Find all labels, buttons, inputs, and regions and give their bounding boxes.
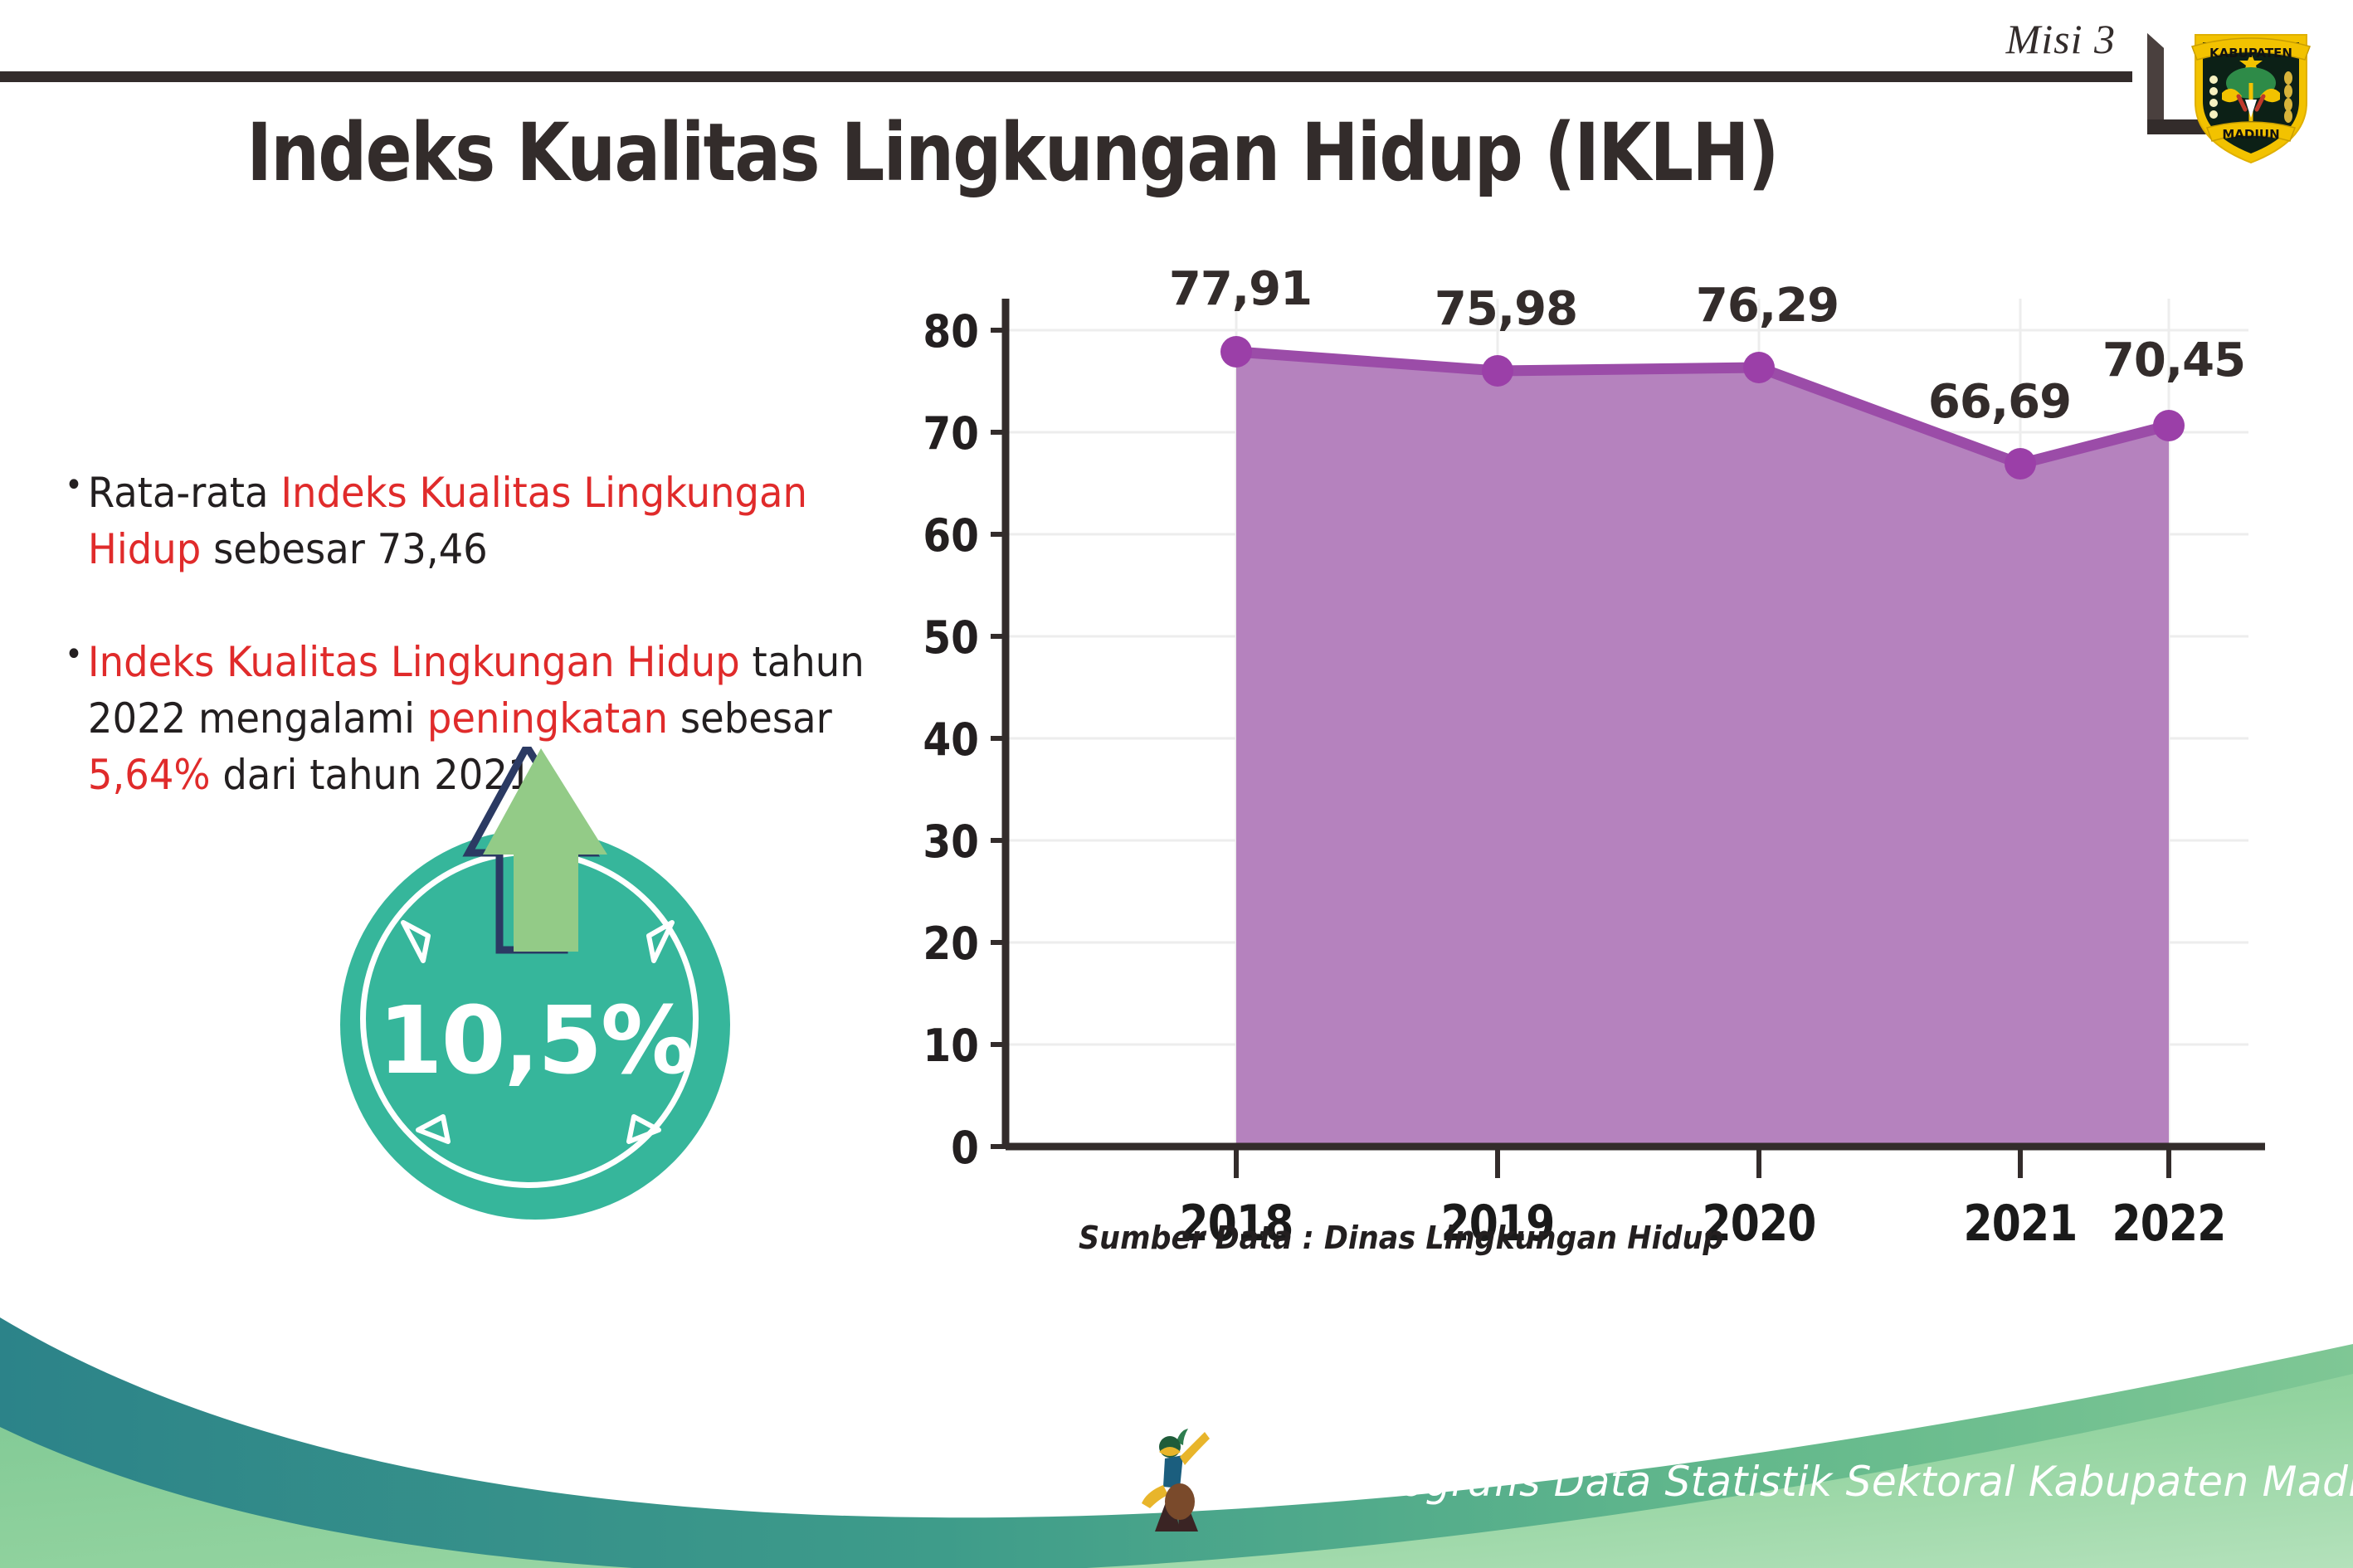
bullet-text-span: Indeks Kualitas Lingkungan Hidup xyxy=(88,638,740,686)
footer-caption: Media Infografis Data Statistik Sektoral… xyxy=(1211,1458,2353,1506)
bullet-text-span: Rata-rata xyxy=(88,469,280,517)
data-label: 76,29 xyxy=(1643,279,1892,333)
slide-root: Misi 3 KABUPA xyxy=(0,0,2353,1568)
ytick-label: 80 xyxy=(874,305,979,358)
data-label: 75,98 xyxy=(1381,282,1630,336)
badge-decorations xyxy=(324,747,755,1211)
bullet-text-span: peningkatan xyxy=(427,694,668,743)
bullet-text-span: sebesar 73,46 xyxy=(201,525,487,573)
data-label: 77,91 xyxy=(1116,262,1365,316)
bullet-item: Rata-rata Indeks Kualitas Lingkungan Hid… xyxy=(65,465,883,577)
bullet-text-span: sebesar xyxy=(668,694,832,743)
badge-percent-value: 10,5% xyxy=(340,987,730,1095)
misi-label: Misi 3 xyxy=(1817,15,2116,63)
page-title: Indeks Kualitas Lingkungan Hidup (IKLH) xyxy=(142,106,1883,199)
ytick-label: 50 xyxy=(874,611,979,664)
ytick-label: 10 xyxy=(874,1020,979,1072)
ytick-label: 0 xyxy=(874,1122,979,1174)
ytick-label: 60 xyxy=(874,509,979,562)
header-rule xyxy=(0,71,2132,82)
footer-band: Media Infografis Data Statistik Sektoral… xyxy=(0,1220,2353,1568)
crest-top-label: KABUPATEN xyxy=(2209,46,2292,61)
data-label: 70,45 xyxy=(2049,334,2298,387)
ytick-label: 20 xyxy=(874,918,979,970)
bullet-text-span: 5,64% xyxy=(88,751,211,799)
growth-badge: 10,5% xyxy=(324,747,755,1211)
chart-x-ticks xyxy=(1236,1147,2169,1178)
kabupaten-madiun-crest-icon: KABUPATEN MADIUN xyxy=(2180,17,2321,166)
crest-bottom-label: MADIUN xyxy=(2222,127,2279,142)
iklh-area-chart: 80 70 60 50 40 30 20 10 0 2018 2019 2020… xyxy=(954,282,2282,1211)
ytick-label: 40 xyxy=(874,713,979,766)
ytick-label: 30 xyxy=(874,816,979,868)
ytick-label: 70 xyxy=(874,407,979,460)
